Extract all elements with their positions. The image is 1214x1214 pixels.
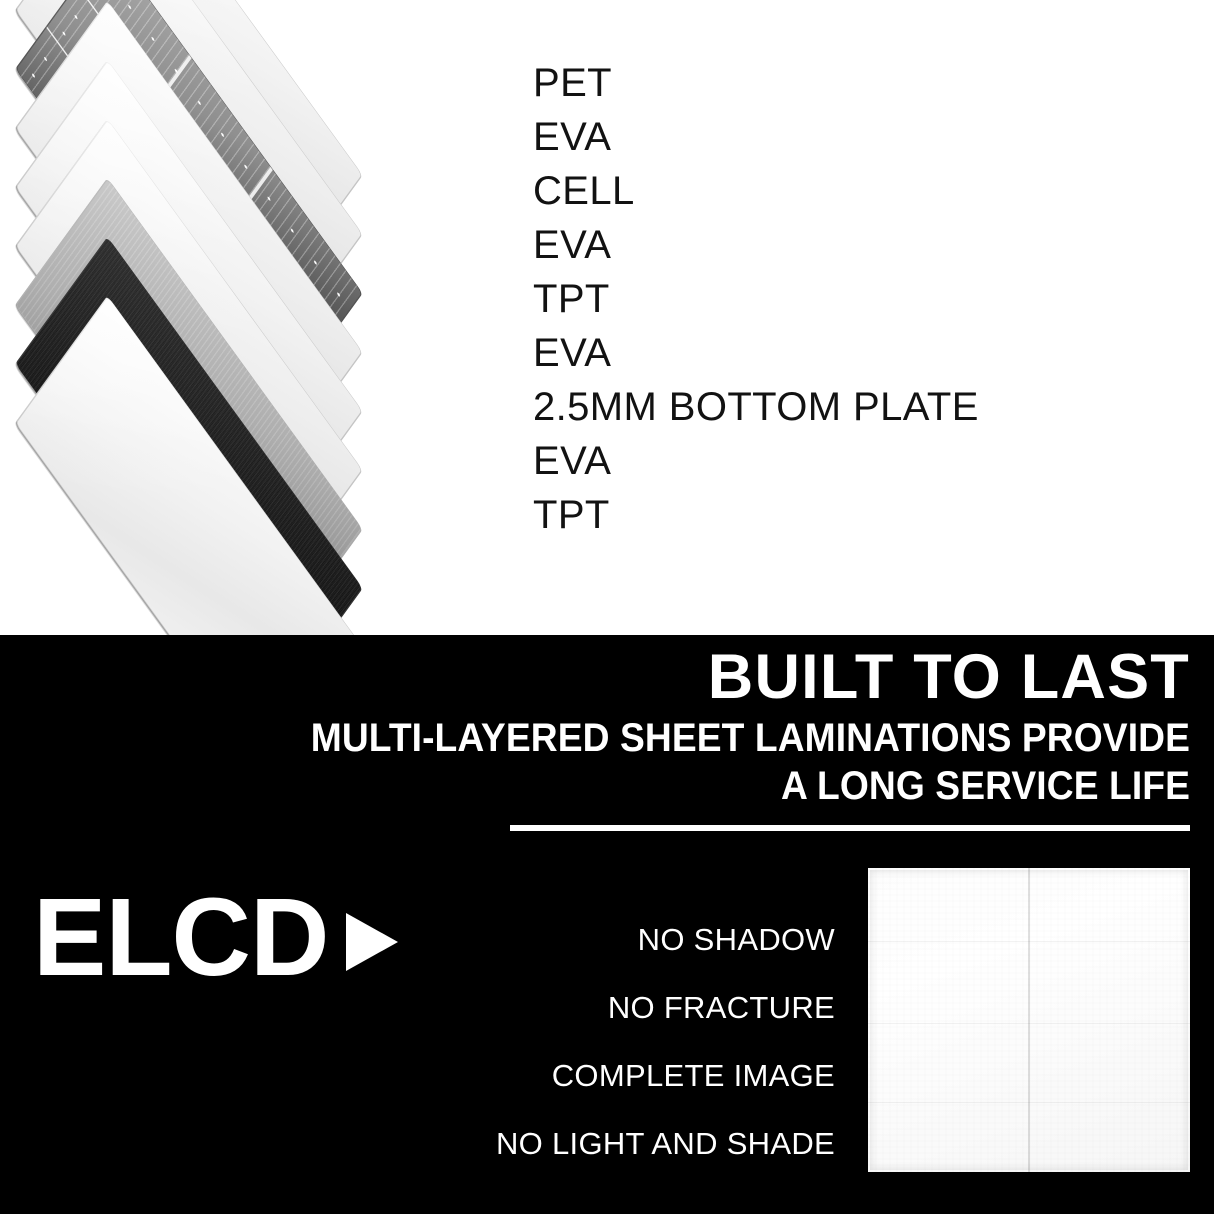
promo-section: BUILT TO LAST MULTI-LAYERED SHEET LAMINA…: [0, 635, 1214, 1214]
feature-item: NO SHADOW: [435, 906, 835, 974]
feature-item: NO LIGHT AND SHADE: [435, 1110, 835, 1178]
layer-label: PET: [533, 56, 1153, 110]
layer-diagram-section: PET EVA CELL EVA TPT EVA 2.5MM BOTTOM PL…: [0, 0, 1214, 635]
promo-headline: BUILT TO LAST: [290, 644, 1190, 710]
promo-subheadline-line-2: A LONG SERVICE LIFE: [297, 762, 1190, 810]
feature-item: COMPLETE IMAGE: [435, 1042, 835, 1110]
layer-label: 2.5MM BOTTOM PLATE: [533, 380, 1153, 434]
product-infographic: PET EVA CELL EVA TPT EVA 2.5MM BOTTOM PL…: [0, 0, 1214, 1214]
el-vignette: [870, 870, 1188, 1170]
layer-label: EVA: [533, 218, 1153, 272]
promo-subheadline: MULTI-LAYERED SHEET LAMINATIONS PROVIDE …: [297, 714, 1190, 810]
brand-wordmark: ELCD: [33, 888, 328, 988]
feature-item: NO FRACTURE: [435, 974, 835, 1042]
layer-label: EVA: [533, 110, 1153, 164]
promo-subheadline-line-1: MULTI-LAYERED SHEET LAMINATIONS PROVIDE: [297, 714, 1190, 762]
layer-label: CELL: [533, 164, 1153, 218]
brand-lockup: ELCD: [33, 888, 398, 988]
layer-label: TPT: [533, 488, 1153, 542]
divider-rule: [510, 825, 1190, 831]
layer-label-list: PET EVA CELL EVA TPT EVA 2.5MM BOTTOM PL…: [533, 56, 1153, 542]
feature-list: NO SHADOW NO FRACTURE COMPLETE IMAGE NO …: [435, 906, 835, 1178]
layer-label: EVA: [533, 326, 1153, 380]
layer-label: EVA: [533, 434, 1153, 488]
play-triangle-icon: [346, 913, 398, 971]
el-test-image: [868, 868, 1190, 1172]
layer-label: TPT: [533, 272, 1153, 326]
exploded-solar-panel-illustration: [0, 4, 494, 694]
